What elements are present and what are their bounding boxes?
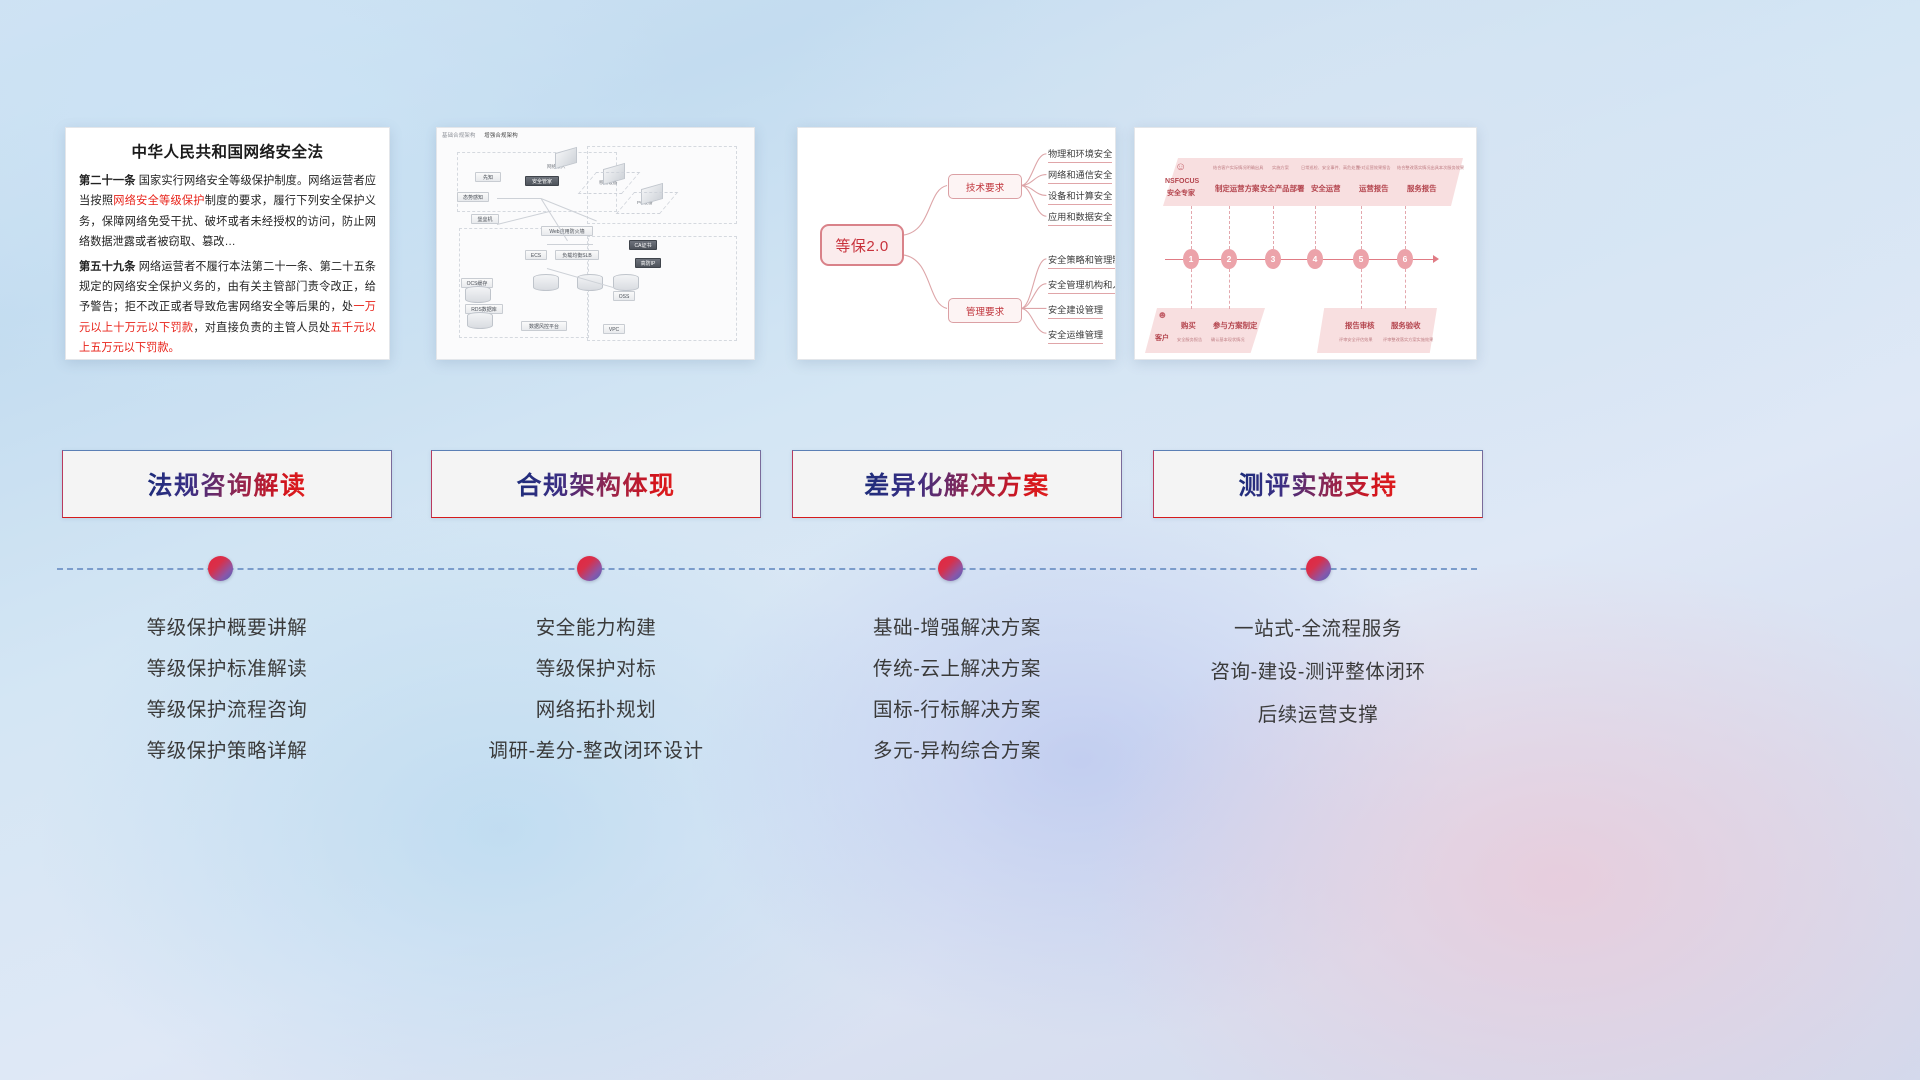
mindmap-leaf-device-compute: 设备和计算安全 [1048,188,1112,205]
list-item: 多元-异构综合方案 [792,731,1122,772]
service-dash-b1 [1191,269,1192,309]
bottom-step-2-sub: 确认基本现状情况 [1211,337,1245,343]
mindmap-leaf-policy-system: 安全策略和管理制度 [1048,252,1116,269]
mindmap-root: 等保2.0 [820,224,904,266]
list-item: 等级保护标准解读 [62,649,392,690]
step-3-sub: 日常巡检、安全事件、高危处置 [1301,165,1360,171]
service-axis [1165,259,1435,260]
bottom-step-4-sub: 评审整改落实方案实施效果 [1383,337,1433,343]
service-dash-5 [1361,206,1362,249]
step-2-sub: 实施方案 [1272,165,1289,171]
step-4-title: 运营报告 [1359,183,1389,194]
law-title: 中华人民共和国网络安全法 [79,140,376,162]
timeline-node-2[interactable] [577,556,602,581]
list-item: 传统-云上解决方案 [792,649,1122,690]
timeline-dashed-line [57,568,1477,570]
timeline-node-1[interactable] [208,556,233,581]
nsfocus-brand: NSFOCUS [1165,178,1199,185]
mindmap-branch-technical: 技术要求 [948,174,1022,199]
section-header-2-label: 合规架构体现 [516,466,675,502]
list-item: 基础-增强解决方案 [792,608,1122,649]
preview-card-architecture[interactable]: 基础合规架构 增强合规架构 安全管家 先知 态势感知 堡垒机 Web应用防火墙 … [436,127,755,360]
bottom-step-4-title: 服务验收 [1391,320,1421,331]
list-item: 等级保护策略详解 [62,731,392,772]
service-axis-arrow-icon [1433,255,1439,263]
service-flow-diagram: ☺ NSFOCUS 安全专家 结合客户实际情况明确出具 制定运营方案 实施方案 … [1135,128,1476,359]
mindmap-diagram: 等保2.0 技术要求 管理要求 物理和环境安全 网络和通信安全 设备和计算安全 … [798,128,1115,359]
bottom-step-2-title: 参与方案制定 [1213,320,1257,331]
section-header-4[interactable]: 测评实施支持 [1153,450,1483,518]
step-2-title: 安全产品部署 [1260,183,1304,194]
preview-card-mindmap[interactable]: 等保2.0 技术要求 管理要求 物理和环境安全 网络和通信安全 设备和计算安全 … [797,127,1116,360]
law-article-21: 第二十一条 国家实行网络安全等级保护制度。网络运营者应当按照网络安全等级保护制度… [79,171,376,253]
tab-enhanced[interactable]: 增强合规架构 [484,133,518,139]
service-marker-4: 4 [1307,249,1323,269]
arch-node-oss: OSS [613,291,635,301]
step-3-title: 安全运营 [1311,183,1341,194]
list-item: 调研-差分-整改闭环设计 [431,731,761,772]
law-document: 中华人民共和国网络安全法 第二十一条 国家实行网络安全等级保护制度。网络运营者应… [66,128,389,360]
preview-card-service-flow[interactable]: ☺ NSFOCUS 安全专家 结合客户实际情况明确出具 制定运营方案 实施方案 … [1134,127,1477,360]
article-59-label: 第五十九条 [79,261,136,273]
section-items-1: 等级保护概要讲解 等级保护标准解读 等级保护流程咨询 等级保护策略详解 [62,608,392,772]
section-items-4: 一站式-全流程服务 咨询-建设-测评整体闭环 后续运营支撑 [1153,608,1483,737]
step-1-sub: 结合客户实际情况明确出具 [1213,165,1263,171]
bottom-step-3-title: 报告审核 [1345,320,1375,331]
list-item: 等级保护概要讲解 [62,608,392,649]
timeline-node-4[interactable] [1306,556,1331,581]
preview-card-law[interactable]: 中华人民共和国网络安全法 第二十一条 国家实行网络安全等级保护制度。网络运营者应… [65,127,390,360]
list-item: 网络拓扑规划 [431,690,761,731]
customer-person-icon: ☻ [1157,310,1168,321]
service-dash-b3 [1361,269,1362,309]
list-item: 安全能力构建 [431,608,761,649]
law-article-59: 第五十九条 网络运营者不履行本法第二十一条、第二十五条规定的网络安全保护义务的，… [79,257,376,359]
service-dash-2 [1229,206,1230,249]
service-dash-3 [1273,206,1274,249]
arch-icon-ecs-stack [533,274,559,291]
service-marker-2: 2 [1221,249,1237,269]
list-item: 国标-行标解决方案 [792,690,1122,731]
article-21-highlight: 网络安全等级保护 [113,195,204,207]
section-header-3-label: 差异化解决方案 [864,466,1050,502]
list-item: 等级保护对标 [431,649,761,690]
customer-label: 客户 [1155,333,1169,343]
section-header-1[interactable]: 法规咨询解读 [62,450,392,518]
mindmap-leaf-physical-env: 物理和环境安全 [1048,146,1112,163]
service-marker-1: 1 [1183,249,1199,269]
architecture-tabs[interactable]: 基础合规架构 增强合规架构 [442,131,525,139]
list-item: 等级保护流程咨询 [62,690,392,731]
expert-person-icon: ☺ [1175,161,1186,173]
arch-node-security-butler: 安全管家 [525,176,559,186]
step-5-title: 服务报告 [1407,183,1437,194]
arch-node-situational-awareness: 态势感知 [457,192,489,202]
step-5-sub: 结合整改落实情况出具本次服务效果 [1397,165,1464,171]
arch-node-slb: 负载均衡SLB [555,250,599,260]
service-dash-b2 [1229,269,1230,309]
arch-node-anti-ddos: 高防IP [635,258,661,268]
bottom-step-1-sub: 安全服务报告 [1177,337,1202,343]
section-items-2: 安全能力构建 等级保护对标 网络拓扑规划 调研-差分-整改闭环设计 [431,608,761,772]
arch-icon-cache-stack [465,286,491,303]
article-21-label: 第二十一条 [79,175,136,187]
arch-connector-1 [497,198,541,199]
arch-node-risk-control: 数据风控平台 [521,321,567,331]
arch-node-waf: Web应用防火墙 [541,226,593,236]
step-4-sub: 针对运营效果报告 [1357,165,1391,171]
slide-canvas: 中华人民共和国网络安全法 第二十一条 国家实行网络安全等级保护制度。网络运营者应… [0,0,1920,1080]
timeline-node-3[interactable] [938,556,963,581]
arch-connector-4 [497,210,552,225]
architecture-diagram: 基础合规架构 增强合规架构 安全管家 先知 态势感知 堡垒机 Web应用防火墙 … [437,128,754,359]
section-header-1-label: 法规咨询解读 [147,466,306,502]
mindmap-leaf-ops-mgmt: 安全运维管理 [1048,327,1103,344]
nsfocus-brand-sub: 安全专家 [1167,188,1195,198]
arch-connector-5 [547,244,593,245]
bottom-step-1-title: 购买 [1181,320,1196,331]
section-header-3[interactable]: 差异化解决方案 [792,450,1122,518]
mindmap-branch-management: 管理要求 [948,298,1022,323]
step-1-title: 制定运营方案 [1215,183,1259,194]
arch-node-bastion: 堡垒机 [471,214,499,224]
list-item: 咨询-建设-测评整体闭环 [1153,651,1483,694]
mindmap-leaf-app-data: 应用和数据安全 [1048,209,1112,226]
service-dash-b4 [1405,269,1406,309]
section-header-2[interactable]: 合规架构体现 [431,450,761,518]
service-marker-3: 3 [1265,249,1281,269]
tab-basic[interactable]: 基础合规架构 [442,133,476,139]
bottom-step-3-sub: 评审安全评估效果 [1339,337,1373,343]
arch-node-vpc: VPC [603,324,625,334]
arch-icon-oss-stack [613,274,639,291]
arch-icon-rds-stack [467,312,493,329]
arch-node-ecs: ECS [525,250,547,260]
list-item: 后续运营支撑 [1153,694,1483,737]
section-items-3: 基础-增强解决方案 传统-云上解决方案 国标-行标解决方案 多元-异构综合方案 [792,608,1122,772]
service-dash-6 [1405,206,1406,249]
service-dash-4 [1315,206,1316,249]
arch-node-ca-cert: CA证书 [629,240,657,250]
mindmap-leaf-network-comm: 网络和通信安全 [1048,167,1112,184]
list-item: 一站式-全流程服务 [1153,608,1483,651]
service-marker-5: 5 [1353,249,1369,269]
arch-node-xianzhi: 先知 [475,172,501,182]
mindmap-leaf-construction-mgmt: 安全建设管理 [1048,302,1103,319]
service-marker-6: 6 [1397,249,1413,269]
mindmap-leaf-org-personnel: 安全管理机构和人员 [1048,277,1116,294]
section-header-4-label: 测评实施支持 [1238,466,1397,502]
service-dash-1 [1191,206,1192,249]
article-59-mid: ，对直接负责的主管人员处 [193,322,330,334]
